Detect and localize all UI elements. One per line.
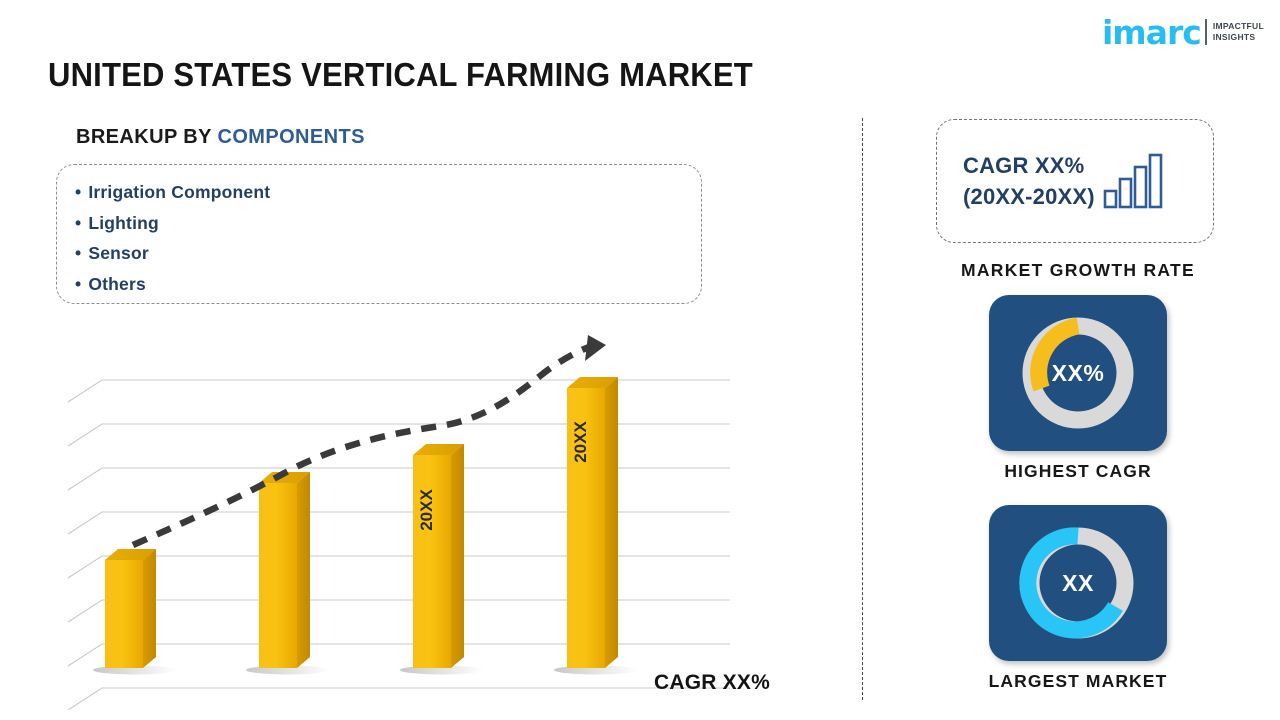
list-item-label: Others: [88, 274, 146, 294]
list-item: •Lighting: [75, 208, 701, 239]
imarc-logo: imarc IMPACTFUL INSIGHTS: [1102, 14, 1264, 50]
list-item: •Others: [75, 269, 701, 300]
market-growth-rate-caption: MARKET GROWTH RATE: [900, 260, 1256, 281]
bar-chart-icon: [1103, 153, 1165, 214]
bullet-icon: •: [75, 243, 81, 263]
growth-rate-bar-chart: 20XX 20XX CAGR XX% GROWTH RATE: [40, 330, 800, 710]
list-item-label: Sensor: [88, 243, 149, 263]
cagr-card-line2: (20XX-20XX): [963, 181, 1095, 212]
logo-tagline: IMPACTFUL INSIGHTS: [1213, 21, 1264, 42]
infographic-page: imarc IMPACTFUL INSIGHTS UNITED STATES V…: [0, 0, 1280, 720]
chart-trend-line: [133, 335, 606, 545]
largest-market-card: XX: [989, 505, 1167, 661]
chart-bar: [259, 472, 310, 668]
page-title: UNITED STATES VERTICAL FARMING MARKET: [48, 56, 753, 94]
bullet-icon: •: [75, 182, 81, 202]
logo-wordmark: imarc: [1102, 16, 1201, 49]
highest-cagr-caption: HIGHEST CAGR: [900, 461, 1256, 482]
breakup-heading: BREAKUP BY COMPONENTS: [76, 126, 365, 149]
breakup-heading-prefix: BREAKUP BY: [76, 126, 217, 148]
chart-bar-label: 20XX: [571, 421, 590, 463]
highest-cagr-value: XX%: [1052, 360, 1105, 387]
bullet-icon: •: [75, 274, 81, 294]
chart-gridlines: [68, 380, 730, 710]
logo-tagline-line1: IMPACTFUL: [1213, 21, 1264, 32]
logo-divider: [1205, 19, 1207, 45]
logo-tagline-line2: INSIGHTS: [1213, 32, 1264, 43]
list-item: •Irrigation Component: [75, 177, 701, 208]
cagr-card-text: CAGR XX% (20XX-20XX): [963, 150, 1095, 212]
largest-market-caption: LARGEST MARKET: [900, 671, 1256, 692]
largest-market-value: XX: [1062, 570, 1094, 597]
cagr-card-line1: CAGR XX%: [963, 150, 1095, 181]
highest-cagr-card: XX%: [989, 295, 1167, 451]
chart-bar: 20XX: [413, 444, 464, 668]
chart-bar: 20XX: [567, 377, 618, 668]
chart-bar-shadows: [93, 666, 638, 675]
panel-divider: [862, 118, 863, 700]
chart-cagr-annotation: CAGR XX%: [654, 671, 770, 695]
segment-list-box: •Irrigation Component •Lighting •Sensor …: [56, 164, 702, 304]
chart-canvas: 20XX 20XX: [40, 330, 800, 710]
bullet-icon: •: [75, 213, 81, 233]
breakup-heading-accent: COMPONENTS: [217, 126, 364, 148]
market-growth-rate-card: CAGR XX% (20XX-20XX): [936, 119, 1214, 243]
kpi-panel: CAGR XX% (20XX-20XX) MARKET GROWTH RATE: [900, 110, 1256, 702]
chart-bar: [105, 549, 156, 668]
trend-arrow-icon: [585, 335, 606, 361]
list-item: •Sensor: [75, 238, 701, 269]
list-item-label: Irrigation Component: [88, 182, 270, 202]
chart-bar-label: 20XX: [417, 489, 436, 531]
list-item-label: Lighting: [88, 213, 159, 233]
